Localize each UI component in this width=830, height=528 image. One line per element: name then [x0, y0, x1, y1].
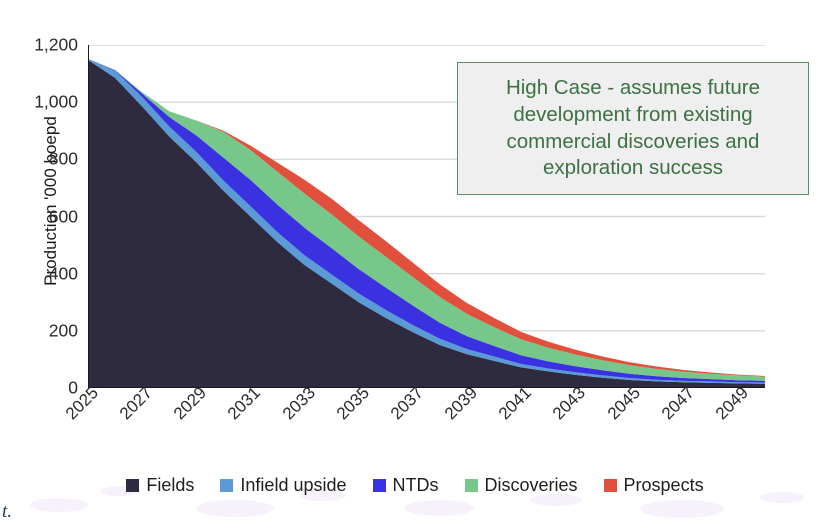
x-axis-tick-label: 2045 — [603, 383, 644, 424]
y-axis-tick-label: 200 — [12, 320, 78, 341]
y-axis-tick-label: 400 — [12, 263, 78, 284]
corner-partial-glyph: t. — [2, 505, 12, 523]
legend-swatch-icon — [220, 479, 233, 492]
legend-item-ntds[interactable]: NTDs — [373, 475, 439, 496]
decorative-blob — [196, 500, 274, 517]
legend-item-infield-upside[interactable]: Infield upside — [220, 475, 346, 496]
x-axis-tick-label: 2041 — [495, 383, 536, 424]
y-axis-tick-label: 800 — [12, 149, 78, 170]
decorative-blob — [640, 500, 724, 518]
legend-item-discoveries[interactable]: Discoveries — [465, 475, 578, 496]
x-axis-tick-label: 2037 — [387, 383, 428, 424]
legend-label: Infield upside — [240, 475, 346, 496]
x-axis-tick-label: 2031 — [224, 383, 265, 424]
legend-swatch-icon — [126, 479, 139, 492]
y-axis-tick-label: 600 — [12, 206, 78, 227]
y-axis-tick-labels: 02004006008001,0001,200 — [12, 0, 78, 528]
x-axis-tick-label: 2049 — [712, 383, 753, 424]
chart-legend: FieldsInfield upsideNTDsDiscoveriesProsp… — [0, 470, 830, 500]
legend-swatch-icon — [373, 479, 386, 492]
legend-item-prospects[interactable]: Prospects — [604, 475, 704, 496]
x-axis-tick-label: 2029 — [170, 383, 211, 424]
legend-label: Fields — [146, 475, 194, 496]
x-axis-tick-label: 2027 — [116, 383, 157, 424]
legend-label: NTDs — [393, 475, 439, 496]
x-axis-tick-label: 2035 — [333, 383, 374, 424]
x-axis-tick-label: 2039 — [441, 383, 482, 424]
x-axis-tick-label: 2033 — [278, 383, 319, 424]
legend-item-fields[interactable]: Fields — [126, 475, 194, 496]
legend-label: Prospects — [624, 475, 704, 496]
y-axis-tick-label: 0 — [12, 378, 78, 399]
x-axis-tick-label: 2043 — [549, 383, 590, 424]
decorative-blob — [404, 500, 474, 516]
y-axis-tick-label: 1,000 — [12, 92, 78, 113]
legend-swatch-icon — [604, 479, 617, 492]
annotation-callout: High Case - assumes future development f… — [457, 62, 809, 195]
annotation-text: High Case - assumes future development f… — [472, 75, 794, 182]
y-axis-tick-label: 1,200 — [12, 35, 78, 56]
x-axis-tick-label: 2047 — [658, 383, 699, 424]
legend-label: Discoveries — [485, 475, 578, 496]
chart-container: Production '000 boepd 02004006008001,000… — [0, 0, 830, 528]
legend-swatch-icon — [465, 479, 478, 492]
